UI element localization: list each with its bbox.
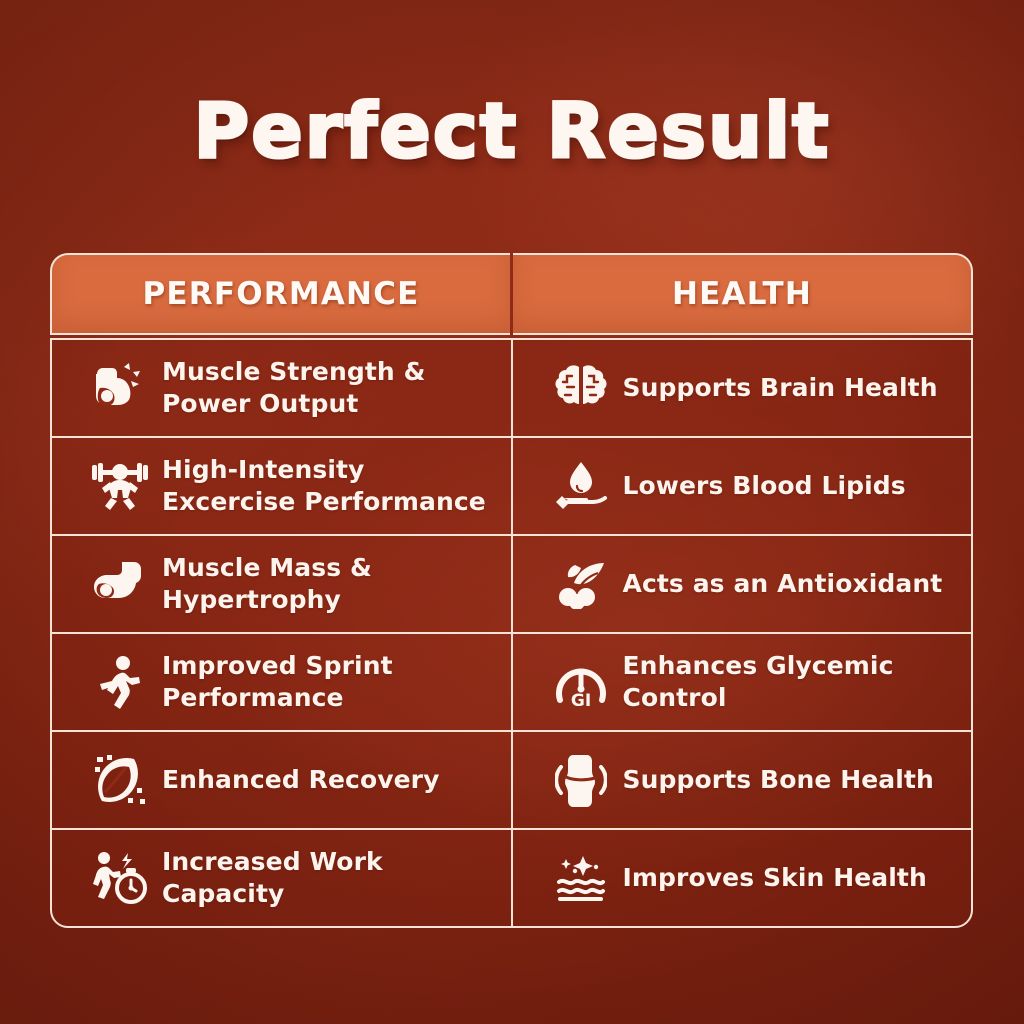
- glycemic-index-gauge-icon: GI: [539, 649, 623, 715]
- cell-label: Improves Skin Health: [623, 862, 935, 895]
- table-row: Increased Work Capacity Improves S: [52, 830, 971, 926]
- table-header-row: PERFORMANCE HEALTH: [50, 253, 973, 335]
- column-header-label: PERFORMANCE: [142, 276, 419, 312]
- table-row: High-Intensity Excercise Performance Low…: [52, 438, 971, 536]
- benefits-table: PERFORMANCE HEALTH: [50, 253, 973, 928]
- cell-label: Muscle Mass & Hypertrophy: [162, 552, 511, 617]
- cell-performance: Muscle Mass & Hypertrophy: [52, 536, 513, 632]
- cell-performance: Enhanced Recovery: [52, 732, 513, 828]
- brain-icon: [539, 355, 623, 421]
- flexed-bicep-impact-icon: [78, 355, 162, 421]
- cell-health: GI Enhances Glycemic Control: [513, 634, 972, 730]
- hand-blood-drop-icon: [539, 453, 623, 519]
- column-header-performance: PERFORMANCE: [50, 253, 510, 335]
- cell-label: Supports Bone Health: [623, 764, 942, 797]
- cell-label: Supports Brain Health: [623, 372, 946, 405]
- flexed-bicep-icon: [78, 551, 162, 617]
- cell-label: Enhanced Recovery: [162, 764, 448, 797]
- muscle-fiber-recovery-icon: [78, 747, 162, 813]
- table-row: Improved Sprint Performance GI Enhances …: [52, 634, 971, 732]
- walking-person-stopwatch-icon: [78, 845, 162, 911]
- infographic-stage: Perfect Result PERFORMANCE HEALTH: [0, 0, 1024, 1024]
- knee-joint-bone-icon: [539, 747, 623, 813]
- svg-text:GI: GI: [570, 691, 590, 708]
- column-header-health: HEALTH: [513, 253, 973, 335]
- page-title: Perfect Result: [194, 86, 831, 175]
- running-person-icon: [78, 649, 162, 715]
- cell-performance: Increased Work Capacity: [52, 830, 513, 926]
- weightlifter-barbell-icon: [78, 453, 162, 519]
- cell-label: Acts as an Antioxidant: [623, 568, 951, 601]
- column-header-label: HEALTH: [672, 276, 812, 312]
- cell-performance: High-Intensity Excercise Performance: [52, 438, 513, 534]
- table-row: Muscle Mass & Hypertrophy Acts as: [52, 536, 971, 634]
- cell-performance: Improved Sprint Performance: [52, 634, 513, 730]
- cell-label: Muscle Strength & Power Output: [162, 356, 511, 421]
- cell-health: Supports Bone Health: [513, 732, 972, 828]
- title-container: Perfect Result: [0, 86, 1024, 175]
- cell-health: Acts as an Antioxidant: [513, 536, 972, 632]
- cell-label: Increased Work Capacity: [162, 846, 511, 911]
- cell-label: High-Intensity Excercise Performance: [162, 454, 511, 519]
- cell-label: Enhances Glycemic Control: [623, 650, 972, 715]
- sparkling-skin-icon: [539, 845, 623, 911]
- cell-performance: Muscle Strength & Power Output: [52, 340, 513, 436]
- table-body: Muscle Strength & Power Output Supports …: [50, 338, 973, 928]
- cell-label: Improved Sprint Performance: [162, 650, 511, 715]
- table-row: Enhanced Recovery Supports Bone Health: [52, 732, 971, 830]
- cell-health: Supports Brain Health: [513, 340, 972, 436]
- cell-label: Lowers Blood Lipids: [623, 470, 914, 503]
- cell-health: Improves Skin Health: [513, 830, 972, 926]
- table-row: Muscle Strength & Power Output Supports …: [52, 340, 971, 438]
- cell-health: Lowers Blood Lipids: [513, 438, 972, 534]
- leaf-berry-icon: [539, 551, 623, 617]
